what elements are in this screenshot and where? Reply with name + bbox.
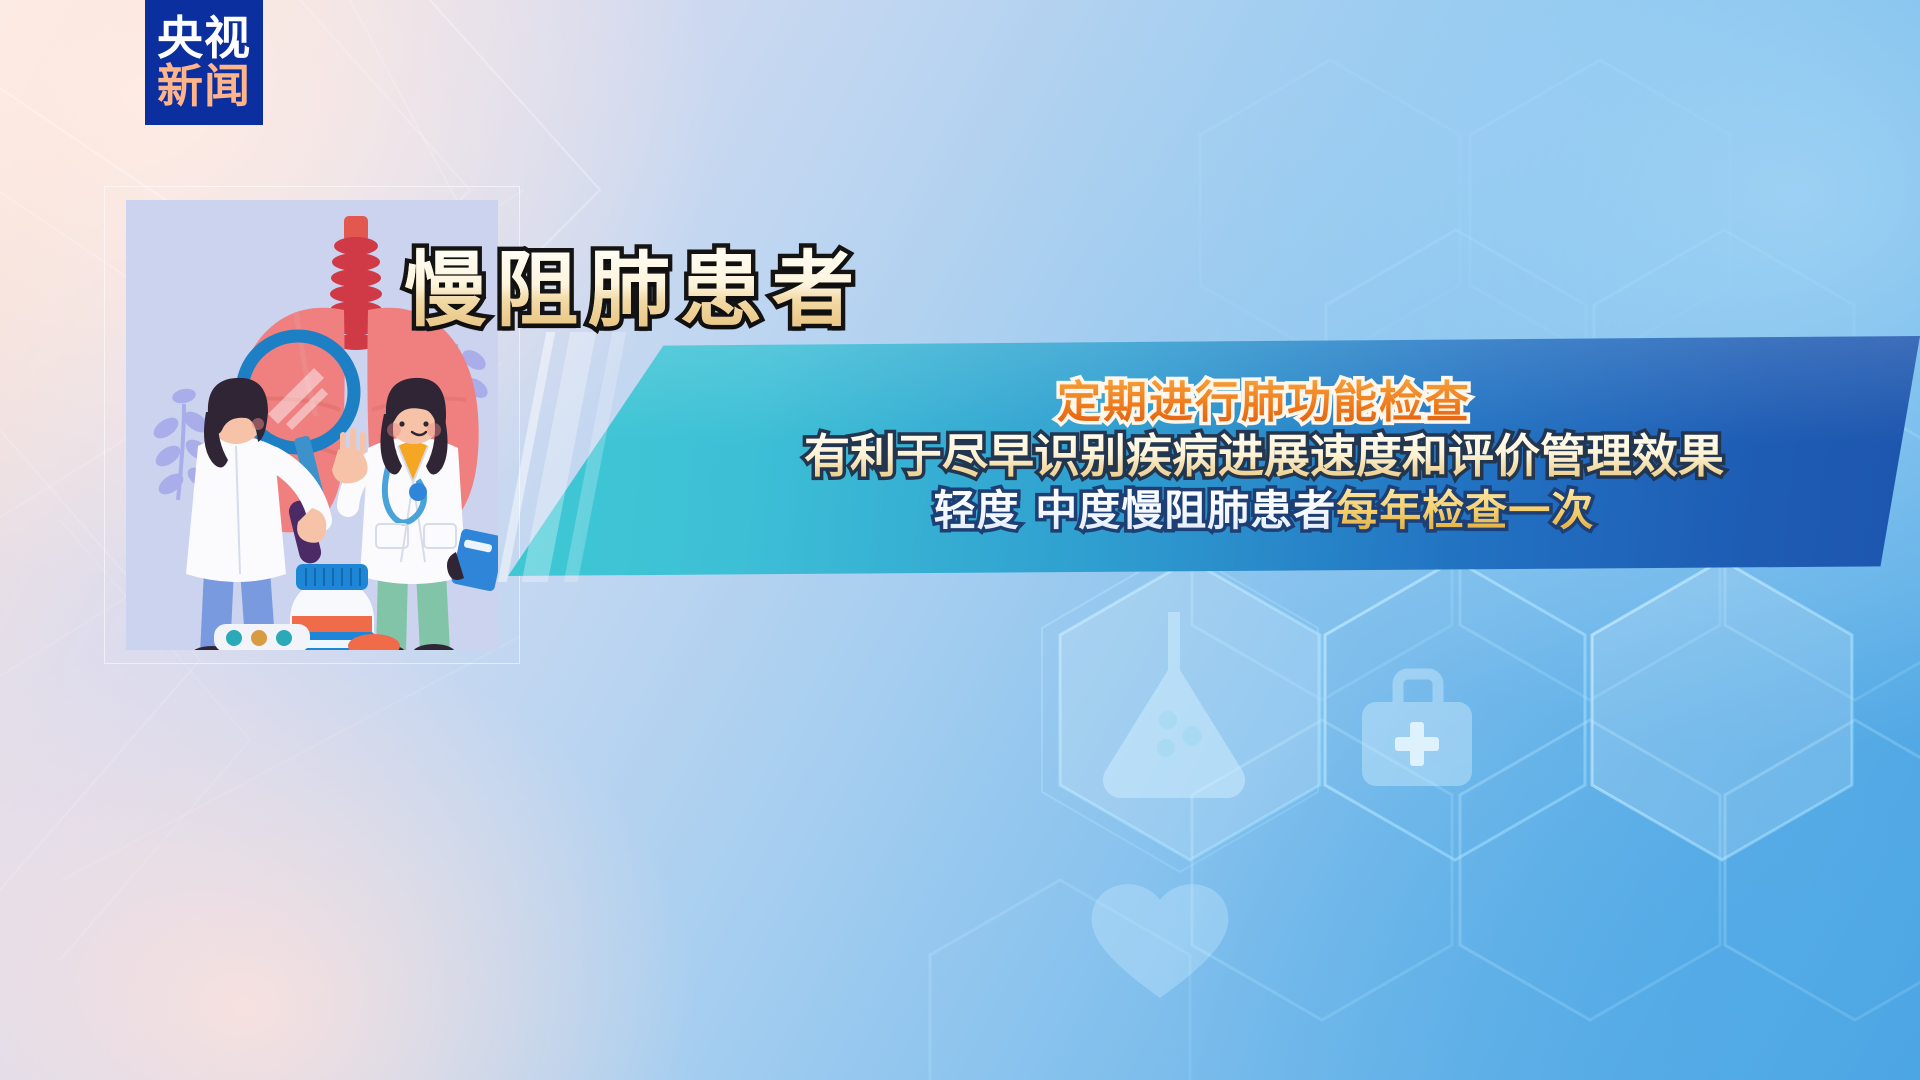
pill-blister-pack	[214, 624, 310, 650]
heart-icon	[1092, 884, 1229, 998]
logo-line-1: 央视	[157, 16, 251, 62]
banner-line-2-fill: 有利于尽早识别疾病进展速度和评价管理效果	[804, 431, 1724, 483]
logo-char: 央视	[157, 16, 251, 62]
banner-line-3-fill: 轻度 中度慢阻肺患者每年检查一次	[934, 487, 1595, 534]
banner-line-3-gold-text: 每年检查一次	[1336, 486, 1594, 535]
banner-line-1: 定期进行肺功能检查 定期进行肺功能检查	[1057, 378, 1471, 427]
banner-line-2: 有利于尽早识别疾病进展速度和评价管理效果 有利于尽早识别疾病进展速度和评价管理效…	[804, 431, 1724, 483]
banner-text-block: 定期进行肺功能检查 定期进行肺功能检查 有利于尽早识别疾病进展速度和评价管理效果…	[508, 336, 1920, 576]
broadcast-graphic-stage: 央视 新闻	[0, 0, 1920, 1080]
info-banner: 定期进行肺功能检查 定期进行肺功能检查 有利于尽早识别疾病进展速度和评价管理效果…	[508, 336, 1920, 576]
banner-line-3: 轻度 中度慢阻肺患者每年检查一次 轻度 中度慢阻肺患者每年检查一次	[934, 487, 1595, 534]
banner-line-3-white-text: 轻度 中度慢阻肺患者	[934, 486, 1337, 535]
banner-line-1-fill: 定期进行肺功能检查	[1057, 378, 1471, 427]
cctv-news-logo: 央视 新闻	[145, 0, 263, 125]
logo-char: 新闻	[157, 64, 251, 110]
page-title: 慢阻肺患者	[404, 250, 864, 332]
logo-line-2: 新闻	[157, 64, 251, 110]
